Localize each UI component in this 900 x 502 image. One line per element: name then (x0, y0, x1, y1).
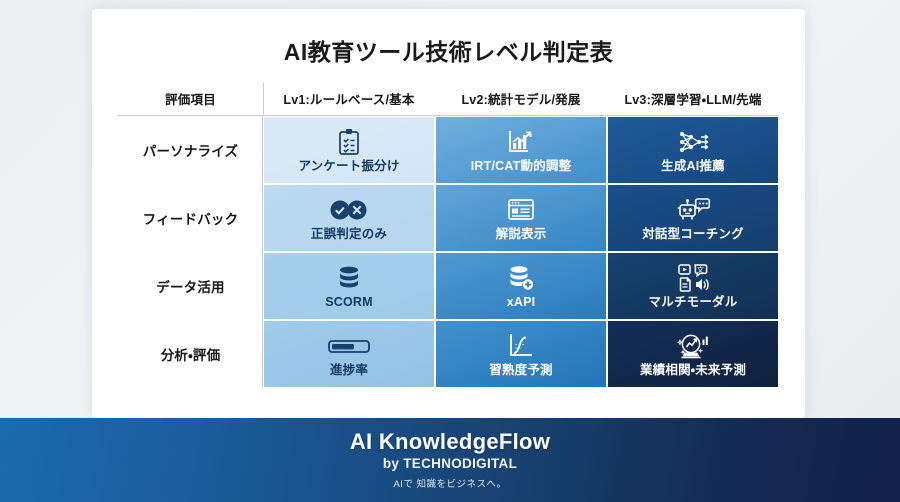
multimodal-grid-icon: 文 (675, 263, 711, 293)
table-row: パーソナライズ アンケート振分け (118, 116, 779, 184)
slide-page: AI教育ツール技術レベル判定表 評価項目 Lv1:ルールベース/基本 Lv2:統… (0, 0, 900, 502)
cell-personalize-lv2[interactable]: IRT/CAT動的調整 (435, 116, 607, 184)
cell-label: 解説表示 (496, 228, 547, 241)
cell-analysis-lv1[interactable]: 進捗率 (263, 320, 435, 388)
cell-label: 習熟度予測 (489, 364, 553, 377)
svg-text:文: 文 (697, 265, 704, 274)
cell-personalize-lv1[interactable]: アンケート振分け (263, 116, 435, 184)
table-row: データ活用 SCORM (118, 252, 779, 320)
check-cross-circles-icon (329, 195, 369, 225)
row-label-analysis: 分析・評価 (118, 320, 263, 388)
row-label-feedback: フィードバック (118, 184, 263, 252)
slide-card: AI教育ツール技術レベル判定表 評価項目 Lv1:ルールベース/基本 Lv2:統… (92, 9, 805, 418)
footer-banner: AI KnowledgeFlow by TECHNODIGITAL AIで 知識… (0, 418, 900, 502)
cell-label: xAPI (507, 296, 536, 309)
database-plus-icon (506, 263, 536, 293)
row-label-text: フィードバック (143, 208, 239, 228)
tech-level-matrix: 評価項目 Lv1:ルールベース/基本 Lv2:統計モデル/発展 Lv3:深層学習… (118, 81, 779, 388)
cell-label: アンケート振分け (298, 160, 399, 173)
cell-label: 業績相関・未来予測 (640, 364, 746, 377)
matrix-header-row: 評価項目 Lv1:ルールベース/基本 Lv2:統計モデル/発展 Lv3:深層学習… (118, 81, 779, 115)
table-row: 分析・評価 進捗率 (118, 320, 779, 388)
row-label-personalize: パーソナライズ (118, 116, 263, 184)
matrix-header-criteria: 評価項目 (118, 89, 263, 108)
progress-bar-icon (327, 331, 371, 361)
row-label-data-usage: データ活用 (118, 252, 263, 320)
s-curve-graph-icon (506, 331, 536, 361)
cell-data-usage-lv2[interactable]: xAPI (435, 252, 607, 320)
clipboard-checklist-icon (336, 127, 362, 157)
bar-chart-trend-icon (506, 127, 536, 157)
matrix-header-lv3: Lv3:深層学習・LLM/先端 (607, 89, 779, 108)
cell-label: 生成AI推薦 (661, 160, 725, 173)
cell-analysis-lv2[interactable]: 習熟度予測 (435, 320, 607, 388)
brand-name: AI KnowledgeFlow (350, 430, 550, 454)
matrix-header-lv2: Lv2:統計モデル/発展 (435, 89, 607, 108)
row-label-text: パーソナライズ (143, 140, 239, 160)
cell-personalize-lv3[interactable]: 生成AI推薦 (607, 116, 779, 184)
cell-label: 対話型コーチング (642, 228, 744, 241)
row-label-text: 分析・評価 (161, 344, 221, 364)
cell-data-usage-lv3[interactable]: 文 マルチモーダル (607, 252, 779, 320)
brand-byline: by TECHNODIGITAL (383, 456, 517, 471)
cell-feedback-lv2[interactable]: 解説表示 (435, 184, 607, 252)
article-window-icon (506, 195, 536, 225)
brand-tagline: AIで 知識をビジネスへ。 (393, 476, 506, 490)
crystal-ball-forecast-icon (675, 331, 711, 361)
cell-label: 進捗率 (330, 364, 368, 377)
neural-network-icon (676, 127, 710, 157)
cell-analysis-lv3[interactable]: 業績相関・未来予測 (607, 320, 779, 388)
cell-label: 正誤判定のみ (311, 228, 387, 241)
cell-label: SCORM (325, 296, 373, 309)
cell-feedback-lv3[interactable]: 対話型コーチング (607, 184, 779, 252)
header-divider-1 (263, 83, 264, 116)
matrix-header-lv1-label: Lv1:ルールベース/基本 (283, 93, 414, 107)
robot-chat-icon (676, 195, 710, 225)
database-icon (336, 263, 362, 293)
cell-label: IRT/CAT動的調整 (471, 160, 572, 173)
table-row: フィードバック 正誤判定のみ (118, 184, 779, 252)
page-title: AI教育ツール技術レベル判定表 (92, 33, 805, 67)
cell-feedback-lv1[interactable]: 正誤判定のみ (263, 184, 435, 252)
cell-label: マルチモーダル (649, 296, 738, 309)
cell-data-usage-lv1[interactable]: SCORM (263, 252, 435, 320)
row-label-text: データ活用 (156, 276, 225, 296)
matrix-header-lv1: Lv1:ルールベース/基本 (263, 89, 435, 108)
